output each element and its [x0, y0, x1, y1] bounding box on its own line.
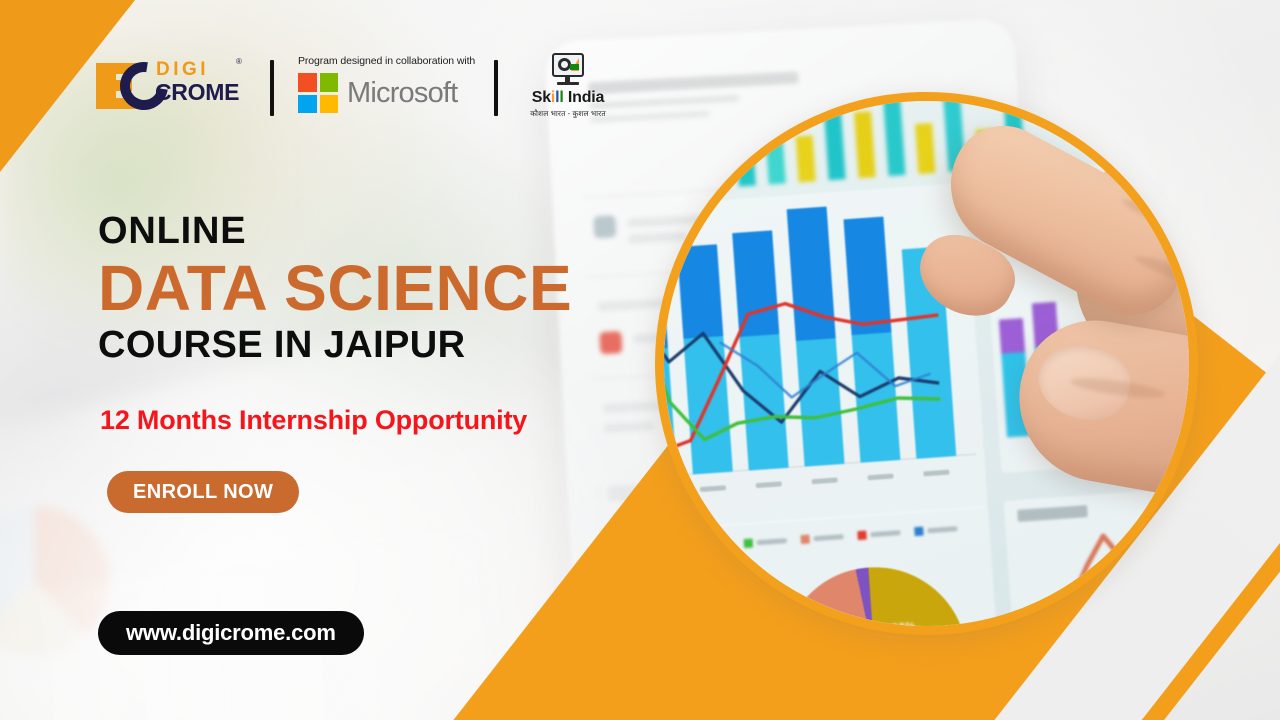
pointing-hand: [892, 119, 1189, 549]
skill-india-rest: India: [564, 89, 605, 106]
microsoft-partner-block: Program designed in collaboration with M…: [296, 55, 472, 121]
headline-line-course-in-jaipur: COURSE IN JAIPUR: [98, 326, 572, 366]
skill-india-hindi-tagline: कौशल भारत - कुशल भारत: [530, 109, 605, 119]
collaboration-caption: Program designed in collaboration with: [298, 55, 475, 67]
partner-logo-row: DIGI CROME ® Program designed in collabo…: [96, 52, 616, 124]
logo-divider-2: [494, 60, 498, 116]
headline-line-online: ONLINE: [98, 212, 572, 252]
hero-circle-image: 63% 46% 10%: [655, 92, 1198, 635]
skill-india-monitor-icon: [549, 53, 587, 87]
microsoft-logo-icon: [298, 73, 338, 113]
content-column: DIGI CROME ® Program designed in collabo…: [0, 0, 660, 720]
enroll-now-button[interactable]: ENROLL NOW: [107, 471, 299, 513]
skill-india-logo: Skill India कौशल भारत - कुशल भारत: [520, 53, 616, 123]
promo-banner: 63% 46% 10%: [0, 0, 1280, 720]
logo-divider-1: [270, 60, 274, 116]
logo-digi-text: DIGI: [156, 59, 209, 81]
skill-india-wordmark: Skill India: [532, 89, 605, 107]
logo-crome-text: CROME: [155, 79, 239, 106]
skill-india-sk: Sk: [532, 89, 551, 106]
headline-line-data-science: DATA SCIENCE: [98, 254, 572, 323]
website-url-pill[interactable]: www.digicrome.com: [98, 611, 364, 655]
pie-label-1: 63%: [892, 620, 916, 626]
page-title: ONLINE DATA SCIENCE COURSE IN JAIPUR: [98, 212, 572, 366]
digicrome-logo[interactable]: DIGI CROME ®: [96, 55, 248, 121]
registered-trademark-icon: ®: [236, 57, 242, 66]
microsoft-wordmark: Microsoft: [347, 79, 457, 108]
internship-tagline: 12 Months Internship Opportunity: [100, 405, 527, 436]
